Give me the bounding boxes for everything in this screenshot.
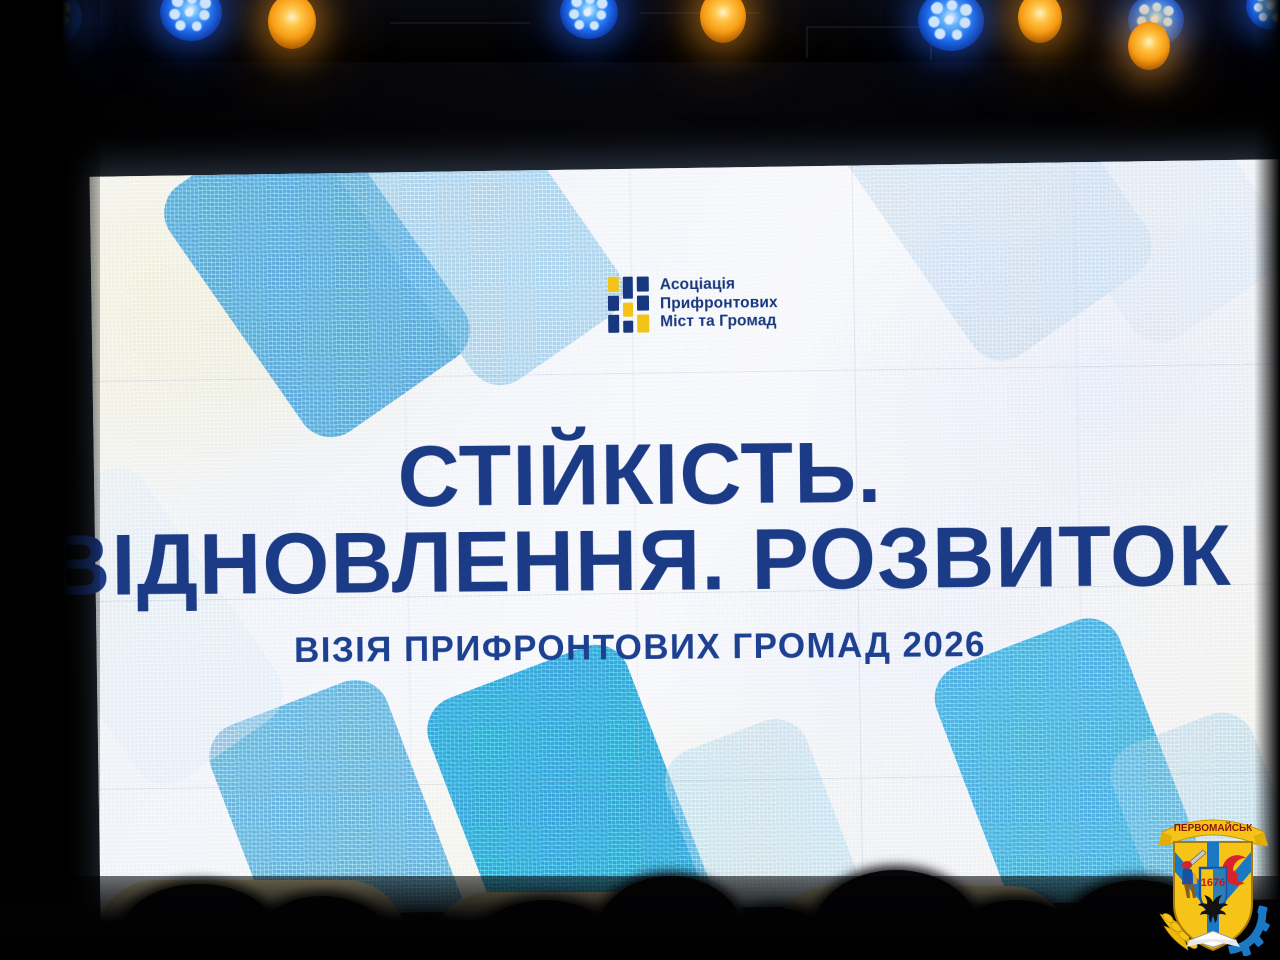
conference-stage-photo: Асоціація Прифронтових Міст та Громад СТ… [0,0,1280,960]
logo-tile [637,314,649,332]
association-logo-lockup: Асоціація Прифронтових Міст та Громад [608,275,778,333]
logo-tile [608,315,619,333]
association-grid-mark-icon [608,276,650,332]
slide-headline-line-2: ВІДНОВЛЕННЯ. РОЗВИТОК [0,512,1280,609]
logo-line-1: Асоціація [660,275,778,295]
logo-tile [623,303,633,317]
emblem-year-text: 1676 [1201,877,1225,889]
logo-tile [623,277,633,299]
logo-tile [608,277,619,292]
emblem-ribbon-text: ПЕРВОМАЙСЬК [1174,821,1253,834]
logo-tile [637,295,649,310]
logo-tile [623,321,633,333]
stage-light-amber [1128,22,1170,70]
city-coat-of-arms-watermark: ПЕРВОМАЙСЬК [1154,806,1272,956]
logo-tile [608,296,619,311]
left-stage-shadow [0,0,100,960]
truss-bar [390,22,530,24]
logo-tile [637,276,649,291]
logo-line-2: Прифронтових [660,294,778,314]
association-logo-text: Асоціація Прифронтових Міст та Громад [660,275,778,332]
logo-line-3: Міст та Громад [660,312,778,332]
foreground-darkness [0,876,1280,960]
truss-bar [806,26,808,58]
